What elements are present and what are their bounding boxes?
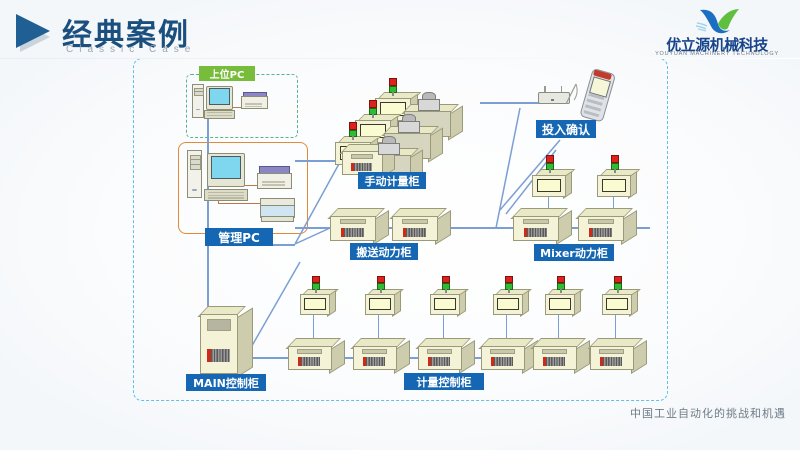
manual-lamp-3 <box>389 78 397 93</box>
label-manual-metering-cabinet: 手动计量柜 <box>358 172 426 189</box>
metering-lamp-4 <box>505 276 513 290</box>
mixer-panel-2 <box>597 169 635 196</box>
host-pc-tower <box>192 84 204 118</box>
label-management-pc: 管理PC <box>205 228 273 246</box>
manual-dome-2 <box>398 114 418 131</box>
metering-panel-3 <box>430 289 464 314</box>
metering-lamp-5 <box>557 276 565 290</box>
manual-dome-1 <box>378 136 398 153</box>
mixer-lamp-1 <box>546 155 554 170</box>
mixer-lamp-2 <box>611 155 619 170</box>
metering-panel-2 <box>365 289 399 314</box>
label-host-pc: 上位PC <box>199 66 255 81</box>
mixer-panel-1 <box>532 169 570 196</box>
metering-cabinet-4 <box>481 338 537 369</box>
label-metering-control-cabinet: 计量控制柜 <box>404 373 484 390</box>
metering-cabinet-5 <box>533 338 589 369</box>
label-main-control-cabinet: MAIN控制柜 <box>186 374 266 391</box>
metering-panel-1 <box>300 289 334 314</box>
management-pc-printer <box>257 166 290 189</box>
play-triangle-icon <box>16 14 50 48</box>
host-pc-keyboard <box>204 110 235 119</box>
label-transfer-power-cabinet: 搬送动力柜 <box>350 243 418 260</box>
mixer-cabinet-2 <box>578 208 636 240</box>
header-divider <box>0 58 800 59</box>
line-input-conf-feed <box>480 102 540 104</box>
management-pc-keyboard <box>204 189 248 201</box>
transfer-cabinet-2 <box>392 208 450 240</box>
metering-cabinet-1 <box>288 338 344 369</box>
management-pc-tower <box>187 150 202 198</box>
label-input-confirmation: 投入确认 <box>536 120 596 138</box>
metering-cabinet-2 <box>353 338 409 369</box>
management-pc-monitor <box>207 153 243 185</box>
manual-dome-3 <box>418 92 438 109</box>
manual-lamp-2 <box>369 100 377 115</box>
metering-cabinet-3 <box>418 338 474 369</box>
metering-panel-4 <box>493 289 527 314</box>
footer-text: 中国工业自动化的挑战和机遇 <box>630 405 786 421</box>
metering-panel-6 <box>602 289 636 314</box>
mixer-cabinet-1 <box>513 208 571 240</box>
main-control-cabinet <box>200 306 252 372</box>
management-pc-scanner <box>260 198 293 220</box>
line-mgmt-to-scanner <box>218 203 262 204</box>
slide-canvas: 经典案例 Classic Case 优立源机械科技 YOUYUAN MACHIN… <box>0 0 800 450</box>
metering-lamp-1 <box>312 276 320 290</box>
host-pc-monitor <box>206 86 231 108</box>
label-mixer-power-cabinet: Mixer动力柜 <box>534 244 614 261</box>
antenna-signal-icon <box>560 82 584 108</box>
metering-cabinet-6 <box>590 338 646 369</box>
host-pc-printer <box>241 92 266 109</box>
metering-panel-5 <box>545 289 579 314</box>
metering-lamp-2 <box>377 276 385 290</box>
manual-lamp-1 <box>349 122 357 137</box>
page-subtitle: Classic Case <box>66 44 196 55</box>
slide-header: 经典案例 Classic Case <box>0 0 800 60</box>
transfer-cabinet-1 <box>330 208 388 240</box>
metering-lamp-6 <box>614 276 622 290</box>
metering-lamp-3 <box>442 276 450 290</box>
